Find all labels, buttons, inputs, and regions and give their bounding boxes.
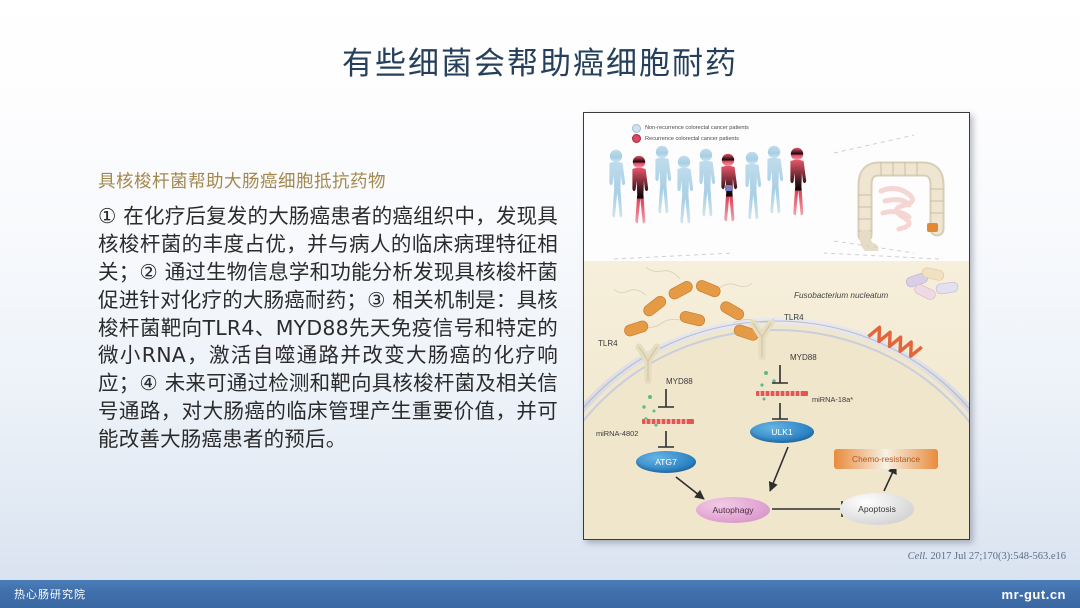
node-ulk1: ULK1: [750, 421, 814, 443]
bacteria-label: Fusobacterium nucleatum: [794, 291, 888, 300]
legend-swatch-blue: [632, 124, 641, 133]
node-apoptosis: Apoptosis: [840, 493, 914, 525]
body-paragraph: ① 在化疗后复发的大肠癌患者的癌组织中，发现具核梭杆菌的丰度占优，并与病人的临床…: [98, 203, 558, 454]
slide-root: 有些细菌会帮助癌细胞耐药 具核梭杆菌帮助大肠癌细胞抵抗药物 ① 在化疗后复发的大…: [0, 0, 1080, 608]
footer-brand-right[interactable]: mr-gut.cn: [1002, 587, 1066, 602]
colon-illustration: [843, 139, 961, 251]
tlr4-label-right: TLR4: [784, 313, 804, 322]
citation: Cell. 2017 Jul 27;170(3):548-563.e16: [908, 551, 1066, 562]
legend-swatch-red: [632, 134, 641, 143]
myd88-label-left: MYD88: [666, 377, 693, 386]
footer-brand-left: 热心肠研究院: [14, 586, 86, 602]
figure-top-panel: Non-recurrence colorectal cancer patient…: [584, 113, 969, 261]
figure-legend: Non-recurrence colorectal cancer patient…: [632, 123, 749, 144]
figure-bottom-panel: Fusobacterium nucleatum TLR4 TLR4 MYD88 …: [584, 261, 969, 539]
sub-heading: 具核梭杆菌帮助大肠癌细胞抵抗药物: [98, 168, 558, 193]
legend-item-non-recurrence: Non-recurrence colorectal cancer patient…: [632, 123, 749, 134]
mirna-4802-label: miRNA-4802: [596, 429, 638, 438]
node-autophagy: Autophagy: [696, 497, 770, 523]
figure-panel: Non-recurrence colorectal cancer patient…: [583, 112, 970, 540]
node-atg7: ATG7: [636, 451, 696, 473]
citation-journal: Cell.: [908, 551, 928, 562]
node-chemo-resistance: Chemo-resistance: [834, 449, 938, 469]
legend-item-recurrence: Recurrence colorectal cancer patients: [632, 134, 749, 145]
legend-label-recurrence: Recurrence colorectal cancer patients: [645, 134, 739, 145]
myd88-label-right: MYD88: [790, 353, 817, 362]
mirna-18a-label: miRNA-18a*: [812, 395, 853, 404]
citation-details: 2017 Jul 27;170(3):548-563.e16: [928, 551, 1066, 562]
legend-label-non-recurrence: Non-recurrence colorectal cancer patient…: [645, 123, 749, 134]
text-column: 具核梭杆菌帮助大肠癌细胞抵抗药物 ① 在化疗后复发的大肠癌患者的癌组织中，发现具…: [98, 168, 558, 454]
page-title: 有些细菌会帮助癌细胞耐药: [0, 38, 1080, 83]
patient-cohort-illustration: [604, 145, 824, 257]
footer-bar: 热心肠研究院 mr-gut.cn: [0, 580, 1080, 608]
signalling-diagram: [584, 261, 969, 539]
tlr4-label-left: TLR4: [598, 339, 618, 348]
